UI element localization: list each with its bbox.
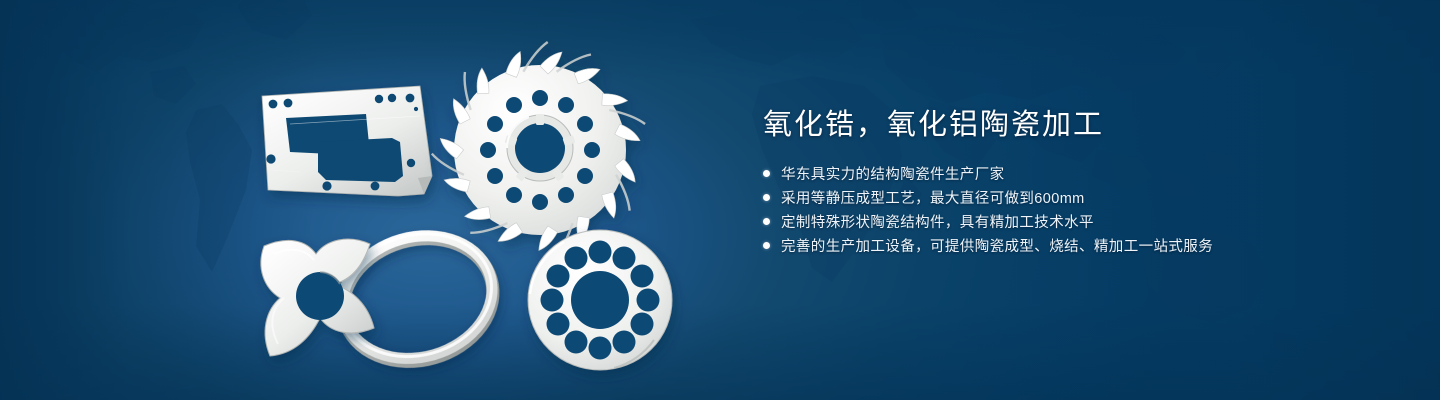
page-title: 氧化锆，氧化铝陶瓷加工 bbox=[763, 104, 1383, 146]
ceramic-plate bbox=[262, 86, 432, 196]
ceramic-perforated-disc bbox=[528, 230, 672, 370]
banner-copy: 氧化锆，氧化铝陶瓷加工 华东具实力的结构陶瓷件生产厂家 采用等静压成型工艺，最大… bbox=[763, 104, 1383, 257]
feature-text: 定制特殊形状陶瓷结构件，具有精加工技术水平 bbox=[781, 211, 1094, 232]
product-photo-group bbox=[0, 0, 700, 400]
list-item: 采用等静压成型工艺，最大直径可做到600mm bbox=[763, 185, 1383, 209]
promo-banner: 氧化锆，氧化铝陶瓷加工 华东具实力的结构陶瓷件生产厂家 采用等静压成型工艺，最大… bbox=[0, 0, 1440, 400]
feature-text: 采用等静压成型工艺，最大直径可做到600mm bbox=[781, 187, 1085, 208]
list-item: 完善的生产加工设备，可提供陶瓷成型、烧结、精加工一站式服务 bbox=[763, 233, 1383, 257]
feature-text: 华东具实力的结构陶瓷件生产厂家 bbox=[781, 163, 1005, 184]
bullet-dot-icon bbox=[763, 242, 770, 249]
bullet-dot-icon bbox=[763, 218, 770, 225]
bullet-dot-icon bbox=[763, 170, 770, 177]
ceramic-impeller bbox=[432, 42, 645, 257]
list-item: 定制特殊形状陶瓷结构件，具有精加工技术水平 bbox=[763, 209, 1383, 233]
feature-list: 华东具实力的结构陶瓷件生产厂家 采用等静压成型工艺，最大直径可做到600mm 定… bbox=[763, 161, 1383, 257]
bullet-dot-icon bbox=[763, 194, 770, 201]
list-item: 华东具实力的结构陶瓷件生产厂家 bbox=[763, 161, 1383, 185]
feature-text: 完善的生产加工设备，可提供陶瓷成型、烧结、精加工一站式服务 bbox=[781, 235, 1213, 256]
